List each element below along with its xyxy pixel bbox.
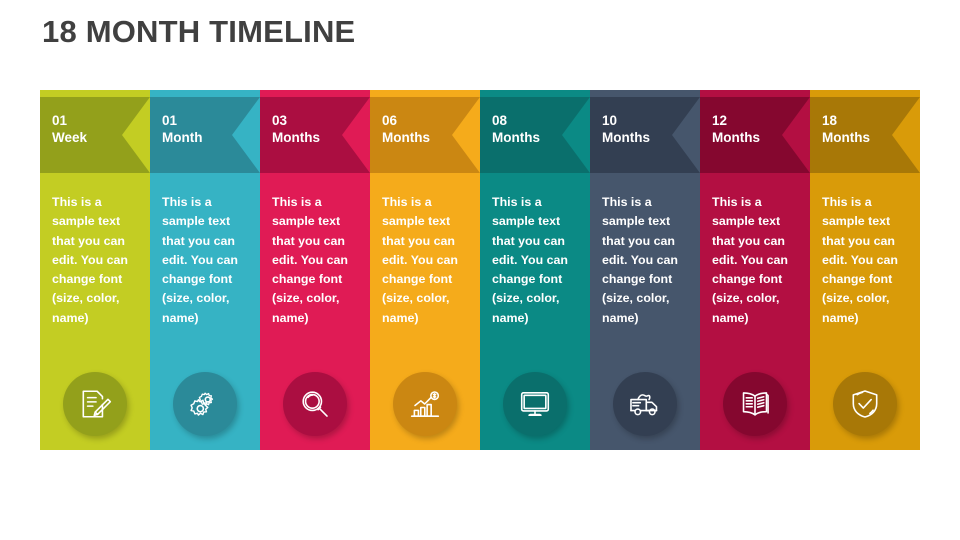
icon-container: [833, 372, 897, 436]
duration-label: 18Months: [822, 112, 870, 146]
open-book-icon: [723, 372, 787, 436]
duration-unit: Months: [492, 129, 540, 146]
duration-number: 01: [162, 112, 202, 129]
timeline-column[interactable]: 18MonthsThis is a sample text that you c…: [810, 90, 920, 450]
column-body-text: This is a sample text that you can edit.…: [162, 193, 252, 328]
column-body-text: This is a sample text that you can edit.…: [272, 193, 362, 328]
duration-label: 12Months: [712, 112, 760, 146]
icon-container: [283, 372, 347, 436]
column-body-text: This is a sample text that you can edit.…: [822, 193, 912, 328]
icon-container: [723, 372, 787, 436]
delivery-truck-icon: [613, 372, 677, 436]
duration-number: 03: [272, 112, 320, 129]
icon-container: [173, 372, 237, 436]
duration-unit: Months: [822, 129, 870, 146]
icon-container: [63, 372, 127, 436]
icon-container: [613, 372, 677, 436]
duration-unit: Months: [382, 129, 430, 146]
timeline-columns: 01WeekThis is a sample text that you can…: [40, 90, 920, 450]
slide-canvas: 18 MONTH TIMELINE 01WeekThis is a sample…: [0, 0, 960, 540]
duration-number: 12: [712, 112, 760, 129]
column-body-text: This is a sample text that you can edit.…: [52, 193, 142, 328]
duration-label: 06Months: [382, 112, 430, 146]
magnifying-glass-icon: [283, 372, 347, 436]
column-body-text: This is a sample text that you can edit.…: [492, 193, 582, 328]
duration-number: 01: [52, 112, 87, 129]
duration-number: 06: [382, 112, 430, 129]
duration-label: 10Months: [602, 112, 650, 146]
monitor-icon: [503, 372, 567, 436]
duration-number: 08: [492, 112, 540, 129]
timeline-column[interactable]: 12MonthsThis is a sample text that you c…: [700, 90, 810, 450]
timeline-column[interactable]: 01WeekThis is a sample text that you can…: [40, 90, 150, 450]
duration-label: 01Week: [52, 112, 87, 146]
timeline-column[interactable]: 01MonthThis is a sample text that you ca…: [150, 90, 260, 450]
duration-label: 03Months: [272, 112, 320, 146]
edit-document-pencil-icon: [63, 372, 127, 436]
duration-unit: Months: [602, 129, 650, 146]
duration-unit: Month: [162, 129, 202, 146]
timeline-column[interactable]: 06MonthsThis is a sample text that you c…: [370, 90, 480, 450]
duration-unit: Months: [712, 129, 760, 146]
timeline-column[interactable]: 08MonthsThis is a sample text that you c…: [480, 90, 590, 450]
icon-container: [393, 372, 457, 436]
duration-unit: Week: [52, 129, 87, 146]
duration-label: 01Month: [162, 112, 202, 146]
duration-number: 18: [822, 112, 870, 129]
page-title: 18 MONTH TIMELINE: [42, 14, 355, 50]
column-body-text: This is a sample text that you can edit.…: [382, 193, 472, 328]
icon-container: [503, 372, 567, 436]
gears-icon: [173, 372, 237, 436]
growth-bar-chart-dollar-icon: [393, 372, 457, 436]
duration-unit: Months: [272, 129, 320, 146]
duration-label: 08Months: [492, 112, 540, 146]
timeline-column[interactable]: 10MonthsThis is a sample text that you c…: [590, 90, 700, 450]
timeline-column[interactable]: 03MonthsThis is a sample text that you c…: [260, 90, 370, 450]
duration-number: 10: [602, 112, 650, 129]
shield-check-icon: [833, 372, 897, 436]
column-body-text: This is a sample text that you can edit.…: [712, 193, 802, 328]
column-body-text: This is a sample text that you can edit.…: [602, 193, 692, 328]
